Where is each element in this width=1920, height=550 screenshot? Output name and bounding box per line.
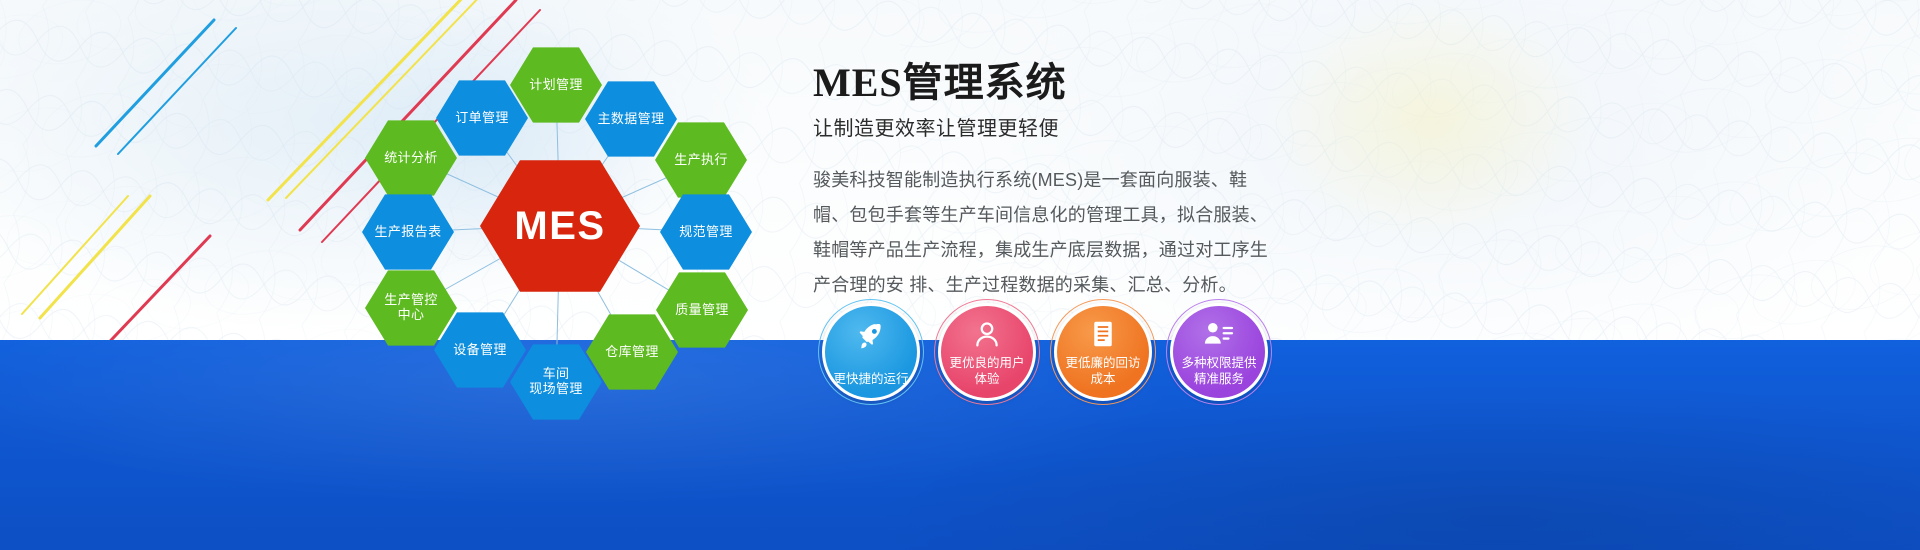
mes-hexagon-diagram: MES 计划管理 订单管理 主数据管理 统计分析 生产执行 生产报告表 规范管理…	[330, 10, 810, 440]
badge-ring	[934, 299, 1040, 405]
diagram-node-label: 生产管控 中心	[380, 293, 442, 323]
feature-badge-better-user-experience[interactable]: 更优良的用户 体验	[938, 303, 1036, 401]
diagram-center-label: MES	[510, 203, 609, 249]
hero-banner: MES 计划管理 订单管理 主数据管理 统计分析 生产执行 生产报告表 规范管理…	[0, 0, 1920, 550]
feature-badge-multi-permission[interactable]: 多种权限提供 精准服务	[1170, 303, 1268, 401]
diagram-node-label: 规范管理	[675, 225, 737, 240]
page-description: 骏美科技智能制造执行系统(MES)是一套面向服装、鞋帽、包包手套等生产车间信息化…	[813, 163, 1283, 303]
badge-ring	[1050, 299, 1156, 405]
diagram-node-label: 仓库管理	[601, 345, 663, 360]
document-icon	[1057, 320, 1149, 348]
diagram-node-label: 车间 现场管理	[525, 367, 587, 397]
diagram-node-label: 统计分析	[380, 151, 442, 166]
rocket-icon	[825, 320, 917, 350]
diagram-node-label: 设备管理	[449, 343, 511, 358]
feature-badge-list: 更快捷的运行 更优良的用户 体验	[822, 303, 1302, 413]
diagram-node-label: 订单管理	[451, 111, 513, 126]
page-title: MES管理系统	[813, 60, 1453, 106]
diagram-node-label: 质量管理	[671, 303, 733, 318]
user-list-icon	[1173, 320, 1265, 346]
user-icon	[941, 320, 1033, 348]
page-subtitle: 让制造更效率让管理更轻便	[813, 112, 1453, 141]
diagram-node-label: 计划管理	[525, 78, 587, 93]
badge-ring	[818, 299, 924, 405]
diagram-node-label: 生产执行	[670, 153, 732, 168]
feature-badge-lower-revisit-cost[interactable]: 更低廉的回访 成本	[1054, 303, 1152, 401]
badge-ring	[1166, 299, 1272, 405]
diagram-node-label: 主数据管理	[593, 112, 668, 127]
hero-text-block: MES管理系统 让制造更效率让管理更轻便 骏美科技智能制造执行系统(MES)是一…	[813, 60, 1453, 303]
feature-badge-faster-operation[interactable]: 更快捷的运行	[822, 303, 920, 401]
diagram-node-label: 生产报告表	[370, 225, 445, 240]
